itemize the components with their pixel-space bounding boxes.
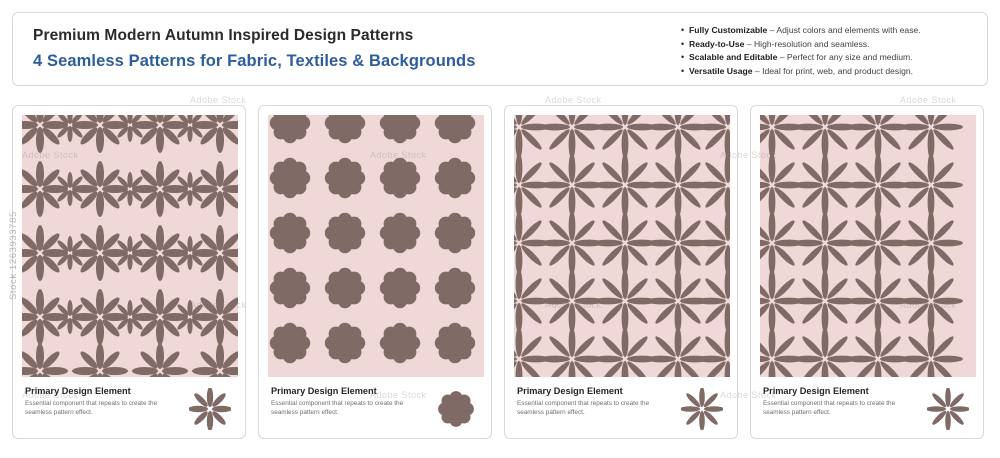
page-title: Premium Modern Autumn Inspired Design Pa… [33, 27, 413, 45]
card-description: Essential component that repeats to crea… [517, 400, 652, 417]
bullet-icon: • [681, 38, 689, 52]
pattern-card[interactable]: Primary Design Element Essential compone… [750, 105, 984, 439]
bullet-icon: • [681, 51, 689, 65]
card-description: Essential component that repeats to crea… [763, 400, 898, 417]
card-description: Essential component that repeats to crea… [25, 400, 160, 417]
card-footer: Primary Design Element Essential compone… [763, 386, 973, 430]
watermark-tile: Adobe Stock [190, 95, 247, 105]
feature-item: • Scalable and Editable – Perfect for an… [681, 51, 981, 65]
eight-ray-starburst-motif [681, 388, 723, 430]
feature-item: • Fully Customizable – Adjust colors and… [681, 24, 981, 38]
feature-list: • Fully Customizable – Adjust colors and… [681, 24, 981, 78]
bullet-icon: • [681, 65, 689, 79]
header-card: Premium Modern Autumn Inspired Design Pa… [12, 12, 988, 86]
pattern-card[interactable]: Primary Design Element Essential compone… [258, 105, 492, 439]
card-description: Essential component that repeats to crea… [271, 400, 406, 417]
pattern-card[interactable]: Primary Design Element Essential compone… [12, 105, 246, 439]
feature-description: – High-resolution and seamless. [744, 39, 869, 49]
pattern-swatch [22, 115, 238, 377]
rounded-flower-motif [435, 388, 477, 430]
card-footer: Primary Design Element Essential compone… [517, 386, 727, 430]
page-subtitle: 4 Seamless Patterns for Fabric, Textiles… [33, 52, 476, 71]
feature-description: – Ideal for print, web, and product desi… [753, 66, 914, 76]
watermark-tile: Adobe Stock [900, 95, 957, 105]
card-footer: Primary Design Element Essential compone… [271, 386, 481, 430]
feature-description: – Perfect for any size and medium. [777, 52, 912, 62]
pattern-swatch [268, 115, 484, 377]
pattern-swatch [760, 115, 976, 377]
card-footer: Primary Design Element Essential compone… [25, 386, 235, 430]
feature-description: – Adjust colors and elements with ease. [767, 25, 920, 35]
pattern-swatch [514, 115, 730, 377]
feature-item: • Versatile Usage – Ideal for print, web… [681, 65, 981, 79]
watermark-tile: Adobe Stock [545, 95, 602, 105]
eight-ray-starburst-motif [927, 388, 969, 430]
pattern-card[interactable]: Primary Design Element Essential compone… [504, 105, 738, 439]
feature-label: Fully Customizable [689, 25, 767, 35]
bullet-icon: • [681, 24, 689, 38]
feature-item: • Ready-to-Use – High-resolution and sea… [681, 38, 981, 52]
feature-label: Scalable and Editable [689, 52, 777, 62]
feature-label: Ready-to-Use [689, 39, 744, 49]
six-petal-star-motif [189, 388, 231, 430]
feature-label: Versatile Usage [689, 66, 753, 76]
